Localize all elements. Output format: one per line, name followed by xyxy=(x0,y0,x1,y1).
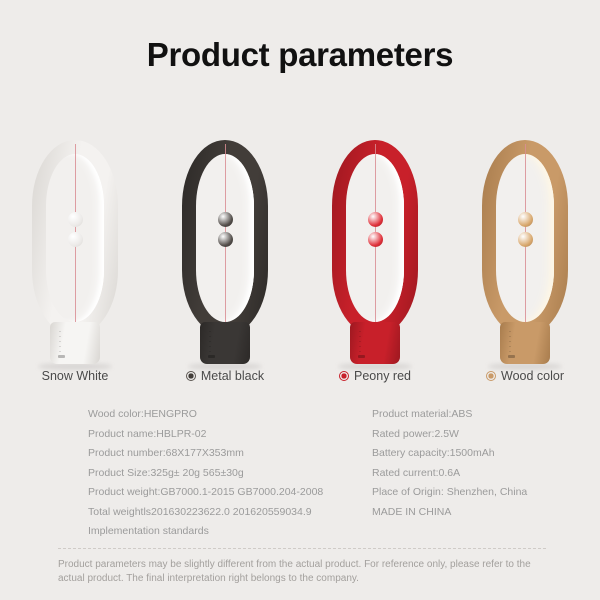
spec-line: Product weight:GB7000.1-2015 GB7000.204-… xyxy=(88,483,323,503)
specifications: Wood color:HENGPROProduct name:HBLPR-02P… xyxy=(0,405,600,535)
lamp-snow-white[interactable] xyxy=(15,126,135,386)
footer: Product parameters may be slightly diffe… xyxy=(58,548,546,586)
radio-dot-icon[interactable] xyxy=(486,371,496,381)
magnet-ball-lower[interactable] xyxy=(68,232,83,247)
spec-line: Rated current:0.6A xyxy=(372,464,527,484)
spec-line: Wood color:HENGPRO xyxy=(88,405,323,425)
spec-line: Product number:68X177X353mm xyxy=(88,444,323,464)
magnet-ball-lower[interactable] xyxy=(218,232,233,247)
magnet-ball-upper[interactable] xyxy=(218,212,233,227)
spec-line: Battery capacity:1500mAh xyxy=(372,444,527,464)
lamp-metal-black[interactable] xyxy=(165,126,285,386)
color-option-snow-white[interactable]: Snow White xyxy=(15,369,135,383)
lamp-wood-color[interactable] xyxy=(465,126,585,386)
usb-port-icon xyxy=(508,355,515,358)
base-vent-marks xyxy=(509,331,511,353)
footer-disclaimer: Product parameters may be slightly diffe… xyxy=(58,558,546,586)
lamp-base xyxy=(50,322,100,364)
spec-line: Product name:HBLPR-02 xyxy=(88,425,323,445)
color-option-metal-black[interactable]: Metal black xyxy=(165,369,285,383)
spec-line: Product Size:325g± 20g 565±30g xyxy=(88,464,323,484)
page-title: Product parameters xyxy=(0,36,600,74)
magnet-ball-upper[interactable] xyxy=(68,212,83,227)
spec-line: Product material:ABS xyxy=(372,405,527,425)
radio-dot-icon[interactable] xyxy=(339,371,349,381)
spec-line: Place of Origin: Shenzhen, China xyxy=(372,483,527,503)
base-vent-marks xyxy=(209,331,211,353)
color-option-label: Metal black xyxy=(201,369,264,383)
spec-line: Total weightls201630223622.0 20162055903… xyxy=(88,503,323,523)
spec-line: Implementation standards xyxy=(88,522,323,542)
spec-column-left: Wood color:HENGPROProduct name:HBLPR-02P… xyxy=(88,405,323,542)
lamp-peony-red[interactable] xyxy=(315,126,435,386)
lamp-base xyxy=(500,322,550,364)
usb-port-icon xyxy=(58,355,65,358)
color-option-wood-color[interactable]: Wood color xyxy=(465,369,585,383)
radio-dot-icon[interactable] xyxy=(186,371,196,381)
lamp-base xyxy=(200,322,250,364)
spec-line: Rated power:2.5W xyxy=(372,425,527,445)
color-option-label: Snow White xyxy=(42,369,109,383)
color-option-peony-red[interactable]: Peony red xyxy=(315,369,435,383)
footer-divider xyxy=(58,548,546,549)
spec-column-right: Product material:ABSRated power:2.5WBatt… xyxy=(372,405,527,522)
magnet-ball-upper[interactable] xyxy=(518,212,533,227)
base-vent-marks xyxy=(359,331,361,353)
usb-port-icon xyxy=(358,355,365,358)
magnet-ball-lower[interactable] xyxy=(368,232,383,247)
usb-port-icon xyxy=(208,355,215,358)
spec-line: MADE IN CHINA xyxy=(372,503,527,523)
lamp-gallery xyxy=(0,126,600,386)
lamp-base xyxy=(350,322,400,364)
magnet-ball-upper[interactable] xyxy=(368,212,383,227)
color-option-label: Wood color xyxy=(501,369,564,383)
base-vent-marks xyxy=(59,331,61,353)
color-variant-labels: Snow WhiteMetal blackPeony redWood color xyxy=(0,366,600,386)
color-option-label: Peony red xyxy=(354,369,411,383)
magnet-ball-lower[interactable] xyxy=(518,232,533,247)
